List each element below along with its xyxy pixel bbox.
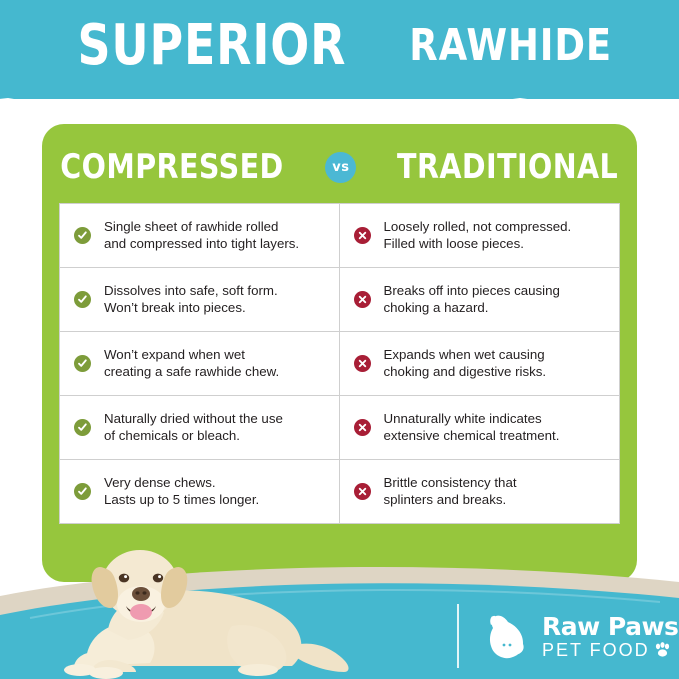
column-header-traditional: TRADITIONAL	[397, 150, 618, 184]
table-cell-compressed: Naturally dried without the use of chemi…	[60, 396, 340, 459]
x-circle-icon	[354, 483, 371, 500]
x-circle-icon	[354, 291, 371, 308]
table-row: Won’t expand when wet creating a safe ra…	[60, 332, 619, 396]
infographic-page: SUPERIOR RAWHIDE COMPRESSED vs TRADITION…	[0, 0, 679, 679]
logo-wordmark: Raw Paws® PET FOOD	[542, 614, 679, 659]
table-row: Very dense chews. Lasts up to 5 times lo…	[60, 460, 619, 523]
cell-text: Loosely rolled, not compressed. Filled w…	[384, 219, 572, 252]
check-circle-icon	[74, 291, 91, 308]
header-banner: SUPERIOR RAWHIDE	[0, 0, 679, 99]
check-circle-icon	[74, 419, 91, 436]
page-title-secondary: RAWHIDE	[409, 24, 612, 68]
brand-logo[interactable]: Raw Paws® PET FOOD	[478, 608, 679, 664]
logo-divider	[457, 604, 459, 668]
cell-text: Naturally dried without the use of chemi…	[104, 411, 283, 444]
logo-tagline-row: PET FOOD	[542, 641, 679, 659]
table-cell-traditional: Breaks off into pieces causing choking a…	[340, 268, 620, 331]
table-cell-compressed: Very dense chews. Lasts up to 5 times lo…	[60, 460, 340, 523]
cell-text: Dissolves into safe, soft form. Won’t br…	[104, 283, 278, 316]
paw-print-icon	[654, 642, 671, 657]
cell-text: Won’t expand when wet creating a safe ra…	[104, 347, 279, 380]
table-row: Single sheet of rawhide rolled and compr…	[60, 204, 619, 268]
x-circle-icon	[354, 227, 371, 244]
table-row: Dissolves into safe, soft form. Won’t br…	[60, 268, 619, 332]
check-circle-icon	[74, 355, 91, 372]
table-cell-compressed: Dissolves into safe, soft form. Won’t br…	[60, 268, 340, 331]
table-cell-compressed: Won’t expand when wet creating a safe ra…	[60, 332, 340, 395]
table-row: Naturally dried without the use of chemi…	[60, 396, 619, 460]
cell-text: Breaks off into pieces causing choking a…	[384, 283, 560, 316]
table-cell-traditional: Unnaturally white indicates extensive ch…	[340, 396, 620, 459]
cell-text: Single sheet of rawhide rolled and compr…	[104, 219, 299, 252]
column-header-compressed: COMPRESSED	[61, 150, 284, 184]
cell-text: Expands when wet causing choking and dig…	[384, 347, 547, 380]
logo-tagline: PET FOOD	[542, 641, 650, 659]
cell-text: Very dense chews. Lasts up to 5 times lo…	[104, 475, 259, 508]
table-cell-compressed: Single sheet of rawhide rolled and compr…	[60, 204, 340, 267]
table-cell-traditional: Loosely rolled, not compressed. Filled w…	[340, 204, 620, 267]
check-circle-icon	[74, 483, 91, 500]
check-circle-icon	[74, 227, 91, 244]
torn-edge-decoration	[0, 90, 679, 99]
dog-and-cat-logo-icon	[478, 608, 534, 664]
vs-badge: vs	[325, 152, 356, 183]
x-circle-icon	[354, 355, 371, 372]
comparison-headers: COMPRESSED vs TRADITIONAL	[42, 134, 637, 200]
table-cell-traditional: Brittle consistency that splinters and b…	[340, 460, 620, 523]
logo-brand-name: Raw Paws®	[542, 614, 679, 639]
header-title-group: SUPERIOR RAWHIDE	[0, 0, 679, 92]
table-cell-traditional: Expands when wet causing choking and dig…	[340, 332, 620, 395]
cell-text: Brittle consistency that splinters and b…	[384, 475, 517, 508]
page-title-primary: SUPERIOR	[77, 18, 346, 74]
x-circle-icon	[354, 419, 371, 436]
comparison-table: Single sheet of rawhide rolled and compr…	[59, 203, 620, 524]
cell-text: Unnaturally white indicates extensive ch…	[384, 411, 560, 444]
